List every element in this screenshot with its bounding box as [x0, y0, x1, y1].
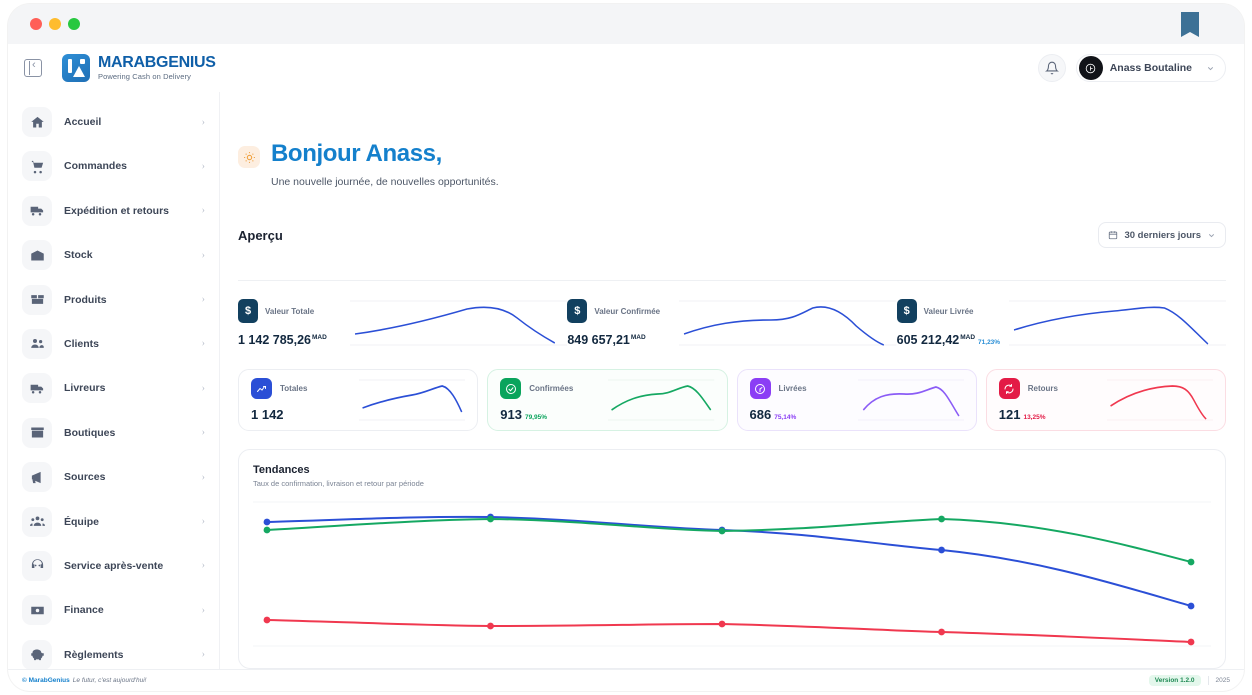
kpi-card-retours[interactable]: Retours 12113,25% — [986, 369, 1226, 431]
trends-line-chart[interactable] — [253, 500, 1211, 660]
page-title: Bonjour Anass, — [271, 140, 442, 168]
series-retour-points — [264, 617, 1195, 646]
divider — [238, 280, 1226, 281]
sidebar-item-label: Produits — [64, 294, 107, 306]
delivery-truck-icon — [22, 373, 52, 403]
value-summary-row: $ Valeur Totale 1 142 785,26MAD — [238, 299, 1226, 347]
calendar-icon — [1108, 230, 1118, 240]
greeting-block: Bonjour Anass, — [238, 92, 1226, 168]
kpi-row: Totales 1 142 — [238, 369, 1226, 431]
app-topbar: MARABGENIUS Powering Cash on Delivery — [8, 44, 1244, 92]
bookmark-icon — [1181, 12, 1199, 37]
kpi-value: 1 142 — [251, 407, 359, 422]
sidebar-item-label: Sources — [64, 471, 105, 483]
browser-window: MARABGENIUS Powering Cash on Delivery — [8, 4, 1244, 691]
footer-brand: © MarabGenius — [22, 677, 70, 684]
sidebar-item-equipe[interactable]: Équipe › — [22, 506, 205, 538]
footer-copyright: © MarabGenius Le futur, c'est aujourd'hu… — [22, 677, 146, 684]
sidebar-item-service-apres-vente[interactable]: Service après-vente › — [22, 550, 205, 582]
kpi-percent: 13,25% — [1023, 414, 1045, 421]
sidebar-item-produits[interactable]: Produits › — [22, 284, 205, 316]
piggy-bank-icon — [22, 640, 52, 669]
brand-logo[interactable]: MARABGENIUS Powering Cash on Delivery — [62, 54, 216, 82]
kpi-card-livrees[interactable]: Livrées 68675,14% — [737, 369, 977, 431]
chevron-right-icon: › — [202, 117, 205, 128]
chevron-right-icon: › — [202, 383, 205, 394]
value-card-amount: 849 657,21MAD — [567, 333, 679, 347]
sidebar-item-label: Règlements — [64, 649, 124, 661]
chevron-right-icon: › — [202, 161, 205, 172]
megaphone-icon — [22, 462, 52, 492]
value-card-valeur-confirmee[interactable]: $ Valeur Confirmée 849 657,21MAD — [567, 299, 896, 347]
brand-tagline: Powering Cash on Delivery — [98, 73, 216, 81]
sidebar[interactable]: Accueil › Commandes › Expédition et reto… — [8, 92, 220, 669]
footer-year: 2025 — [1216, 677, 1230, 684]
sidebar-item-reglements[interactable]: Règlements › — [22, 639, 205, 669]
sparkline-totales — [359, 378, 465, 422]
value-card-valeur-totale[interactable]: $ Valeur Totale 1 142 785,26MAD — [238, 299, 567, 347]
user-avatar-icon — [1084, 62, 1097, 75]
users-icon — [22, 329, 52, 359]
version-badge: Version 1.2.0 — [1149, 675, 1201, 686]
chevron-right-icon: › — [202, 338, 205, 349]
sidebar-item-label: Expédition et retours — [64, 205, 169, 217]
sidebar-item-label: Service après-vente — [64, 560, 163, 572]
kpi-label: Retours — [1028, 384, 1058, 393]
topbar-actions: Anass Boutaline chevron-down-icon — [1038, 54, 1226, 82]
team-icon — [22, 507, 52, 537]
kpi-card-confirmees[interactable]: Confirmées 91379,95% — [487, 369, 727, 431]
kpi-percent: 75,14% — [774, 414, 796, 421]
chevron-right-icon: › — [202, 250, 205, 261]
main-content: Bonjour Anass, Une nouvelle journée, de … — [220, 92, 1244, 669]
sidebar-item-label: Commandes — [64, 160, 127, 172]
kpi-value: 68675,14% — [750, 407, 858, 422]
bookmark-button[interactable] — [1181, 12, 1199, 37]
sidebar-item-label: Accueil — [64, 116, 101, 128]
dollar-icon: $ — [238, 299, 258, 323]
chevron-right-icon: › — [202, 294, 205, 305]
date-range-filter[interactable]: 30 derniers jours — [1098, 222, 1226, 248]
home-icon — [22, 107, 52, 137]
sidebar-collapse-icon[interactable] — [24, 59, 42, 77]
sidebar-item-boutiques[interactable]: Boutiques › — [22, 417, 205, 449]
trends-card: Tendances Taux de confirmation, livraiso… — [238, 449, 1226, 669]
user-name: Anass Boutaline — [1110, 62, 1192, 74]
footer-tagline: Le futur, c'est aujourd'hui! — [73, 677, 147, 684]
sidebar-item-sources[interactable]: Sources › — [22, 461, 205, 493]
sidebar-item-label: Équipe — [64, 516, 99, 528]
refresh-icon — [999, 378, 1020, 399]
kpi-value: 91379,95% — [500, 407, 608, 422]
series-livraison — [267, 519, 1191, 562]
avatar — [1079, 56, 1103, 80]
kpi-percent: 79,95% — [525, 414, 547, 421]
close-window-button[interactable] — [30, 18, 42, 30]
value-card-amount: 605 212,42MAD71,23% — [897, 333, 1009, 347]
chevron-right-icon: › — [202, 516, 205, 527]
store-icon — [22, 418, 52, 448]
series-retour — [267, 620, 1191, 642]
window-controls[interactable] — [30, 18, 80, 30]
sparkline-valeur-totale — [350, 300, 567, 346]
sidebar-item-label: Livreurs — [64, 382, 105, 394]
delivered-icon — [750, 378, 771, 399]
section-title: Aperçu — [238, 228, 283, 243]
window-titlebar — [8, 4, 1244, 44]
sun-icon — [238, 146, 260, 168]
app-footer: © MarabGenius Le futur, c'est aujourd'hu… — [8, 669, 1244, 691]
overview-header: Aperçu 30 derniers jours — [238, 222, 1226, 248]
value-card-label: Valeur Totale — [265, 307, 314, 316]
sidebar-item-label: Boutiques — [64, 427, 115, 439]
trends-title: Tendances — [253, 464, 1211, 476]
sidebar-item-livreurs[interactable]: Livreurs › — [22, 372, 205, 404]
kpi-card-totales[interactable]: Totales 1 142 — [238, 369, 478, 431]
check-circle-icon — [500, 378, 521, 399]
sidebar-item-accueil[interactable]: Accueil › — [22, 106, 205, 138]
sidebar-item-label: Clients — [64, 338, 99, 350]
minimize-window-button[interactable] — [49, 18, 61, 30]
value-card-label: Valeur Confirmée — [594, 307, 660, 316]
chevron-right-icon: › — [202, 560, 205, 571]
sparkline-valeur-confirmee — [679, 300, 896, 346]
sparkline-retours — [1107, 378, 1213, 422]
value-card-valeur-livree[interactable]: $ Valeur Livrée 605 212,42MAD71,23% — [897, 299, 1226, 347]
brand-name: MARABGENIUS — [98, 55, 216, 71]
dollar-icon: $ — [567, 299, 587, 323]
sparkline-confirmees — [608, 378, 714, 422]
value-card-percent: 71,23% — [978, 339, 1000, 346]
sidebar-item-label: Finance — [64, 604, 104, 616]
kpi-label: Livrées — [779, 384, 807, 393]
sidebar-item-finance[interactable]: Finance › — [22, 594, 205, 626]
chevron-right-icon: › — [202, 605, 205, 616]
date-range-label: 30 derniers jours — [1124, 230, 1201, 241]
kpi-label: Totales — [280, 384, 307, 393]
logo-icon — [62, 54, 90, 82]
sidebar-item-commandes[interactable]: Commandes › — [22, 150, 205, 182]
trending-up-icon — [251, 378, 272, 399]
bell-icon — [1045, 61, 1059, 75]
truck-icon — [22, 196, 52, 226]
page-subtitle: Une nouvelle journée, de nouvelles oppor… — [271, 176, 1226, 188]
trends-subtitle: Taux de confirmation, livraison et retou… — [253, 479, 1211, 488]
sidebar-item-expedition-et-retours[interactable]: Expédition et retours › — [22, 195, 205, 227]
cash-icon — [22, 595, 52, 625]
screenshot-root: MARABGENIUS Powering Cash on Delivery — [0, 0, 1252, 695]
chevron-right-icon: › — [202, 472, 205, 483]
kpi-label: Confirmées — [529, 384, 573, 393]
sidebar-item-clients[interactable]: Clients › — [22, 328, 205, 360]
sidebar-item-stock[interactable]: Stock › — [22, 239, 205, 271]
warehouse-icon — [22, 240, 52, 270]
chevron-down-icon-glyph — [1206, 64, 1215, 73]
series-confirmation-points — [264, 514, 1195, 610]
chevron-right-icon: › — [202, 649, 205, 660]
application: MARABGENIUS Powering Cash on Delivery — [8, 44, 1244, 691]
value-card-amount: 1 142 785,26MAD — [238, 333, 350, 347]
dollar-icon: $ — [897, 299, 917, 323]
notifications-button[interactable] — [1038, 54, 1066, 82]
user-menu[interactable]: Anass Boutaline chevron-down-icon — [1076, 54, 1226, 82]
chevron-down-icon — [1207, 231, 1216, 240]
chevron-right-icon: › — [202, 427, 205, 438]
kpi-value: 12113,25% — [999, 407, 1107, 422]
headset-icon — [22, 551, 52, 581]
value-card-label: Valeur Livrée — [924, 307, 974, 316]
sparkline-valeur-livree — [1009, 300, 1226, 346]
chevron-right-icon: › — [202, 205, 205, 216]
sidebar-item-label: Stock — [64, 249, 93, 261]
footer-meta: Version 1.2.0 2025 — [1149, 675, 1230, 686]
maximize-window-button[interactable] — [68, 18, 80, 30]
footer-separator — [1208, 676, 1209, 685]
cart-icon — [22, 151, 52, 181]
box-icon — [22, 285, 52, 315]
sparkline-livrees — [858, 378, 964, 422]
